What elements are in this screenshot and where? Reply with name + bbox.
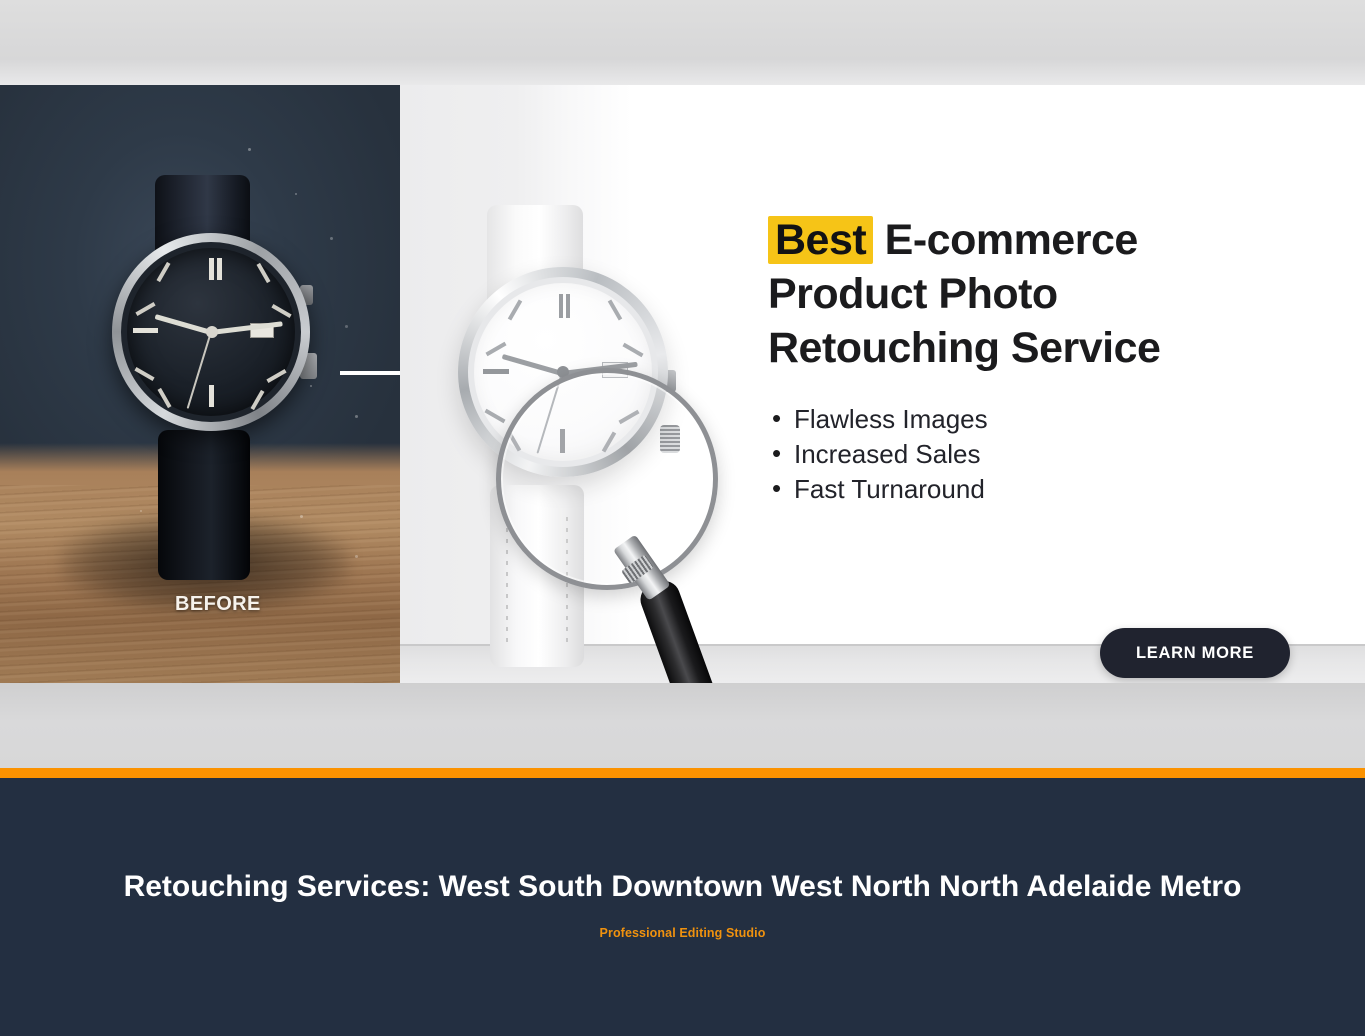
orange-divider (0, 768, 1365, 778)
dust-speck (248, 148, 251, 151)
hour-marker (559, 294, 563, 318)
list-item: Increased Sales (768, 437, 1308, 472)
headline-line3: Retouching Service (768, 324, 1160, 372)
footer-bar: Retouching Services: West South Downtown… (0, 778, 1365, 1036)
dust-speck (300, 515, 303, 518)
before-panel: BEFORE (0, 85, 400, 683)
dust-speck (140, 510, 142, 512)
arrow-shaft (340, 371, 400, 375)
hour-marker (133, 328, 158, 333)
strap-stitching (506, 517, 508, 645)
footer-subtitle: Professional Editing Studio (0, 926, 1365, 940)
hour-marker (483, 369, 509, 374)
before-after-arrow (370, 85, 400, 683)
headline-line2: Product Photo (768, 270, 1058, 318)
dust-speck (345, 325, 348, 328)
hour-marker (209, 385, 214, 407)
hands-pivot (206, 326, 218, 338)
headline-line1-rest: E-commerce (885, 216, 1138, 264)
page-top-background (0, 0, 1365, 85)
banner-text-column: Best E-commerce Product Photo Retouching… (768, 213, 1308, 507)
footer-title: Retouching Services: West South Downtown… (0, 870, 1365, 904)
hour-marker (209, 258, 214, 280)
learn-more-button[interactable]: LEARN MORE (1100, 628, 1290, 678)
dust-speck (310, 385, 312, 387)
hour-marker (217, 258, 222, 280)
dust-speck (330, 237, 333, 240)
dust-speck (355, 415, 358, 418)
dust-speck (295, 193, 297, 195)
hour-marker (566, 294, 570, 318)
banner-headline: Best E-commerce Product Photo Retouching… (768, 213, 1308, 375)
page-gap-background (0, 683, 1365, 768)
list-item: Flawless Images (768, 402, 1308, 437)
magnifier-lens-ring (496, 368, 718, 590)
headline-highlight: Best (768, 216, 873, 264)
list-item: Fast Turnaround (768, 472, 1308, 507)
watch-strap-bottom (158, 430, 250, 580)
hero-banner: BEFORE (0, 85, 1365, 683)
before-label: BEFORE (175, 593, 261, 616)
dust-speck (355, 555, 358, 558)
benefits-list: Flawless Images Increased Sales Fast Tur… (768, 402, 1308, 507)
